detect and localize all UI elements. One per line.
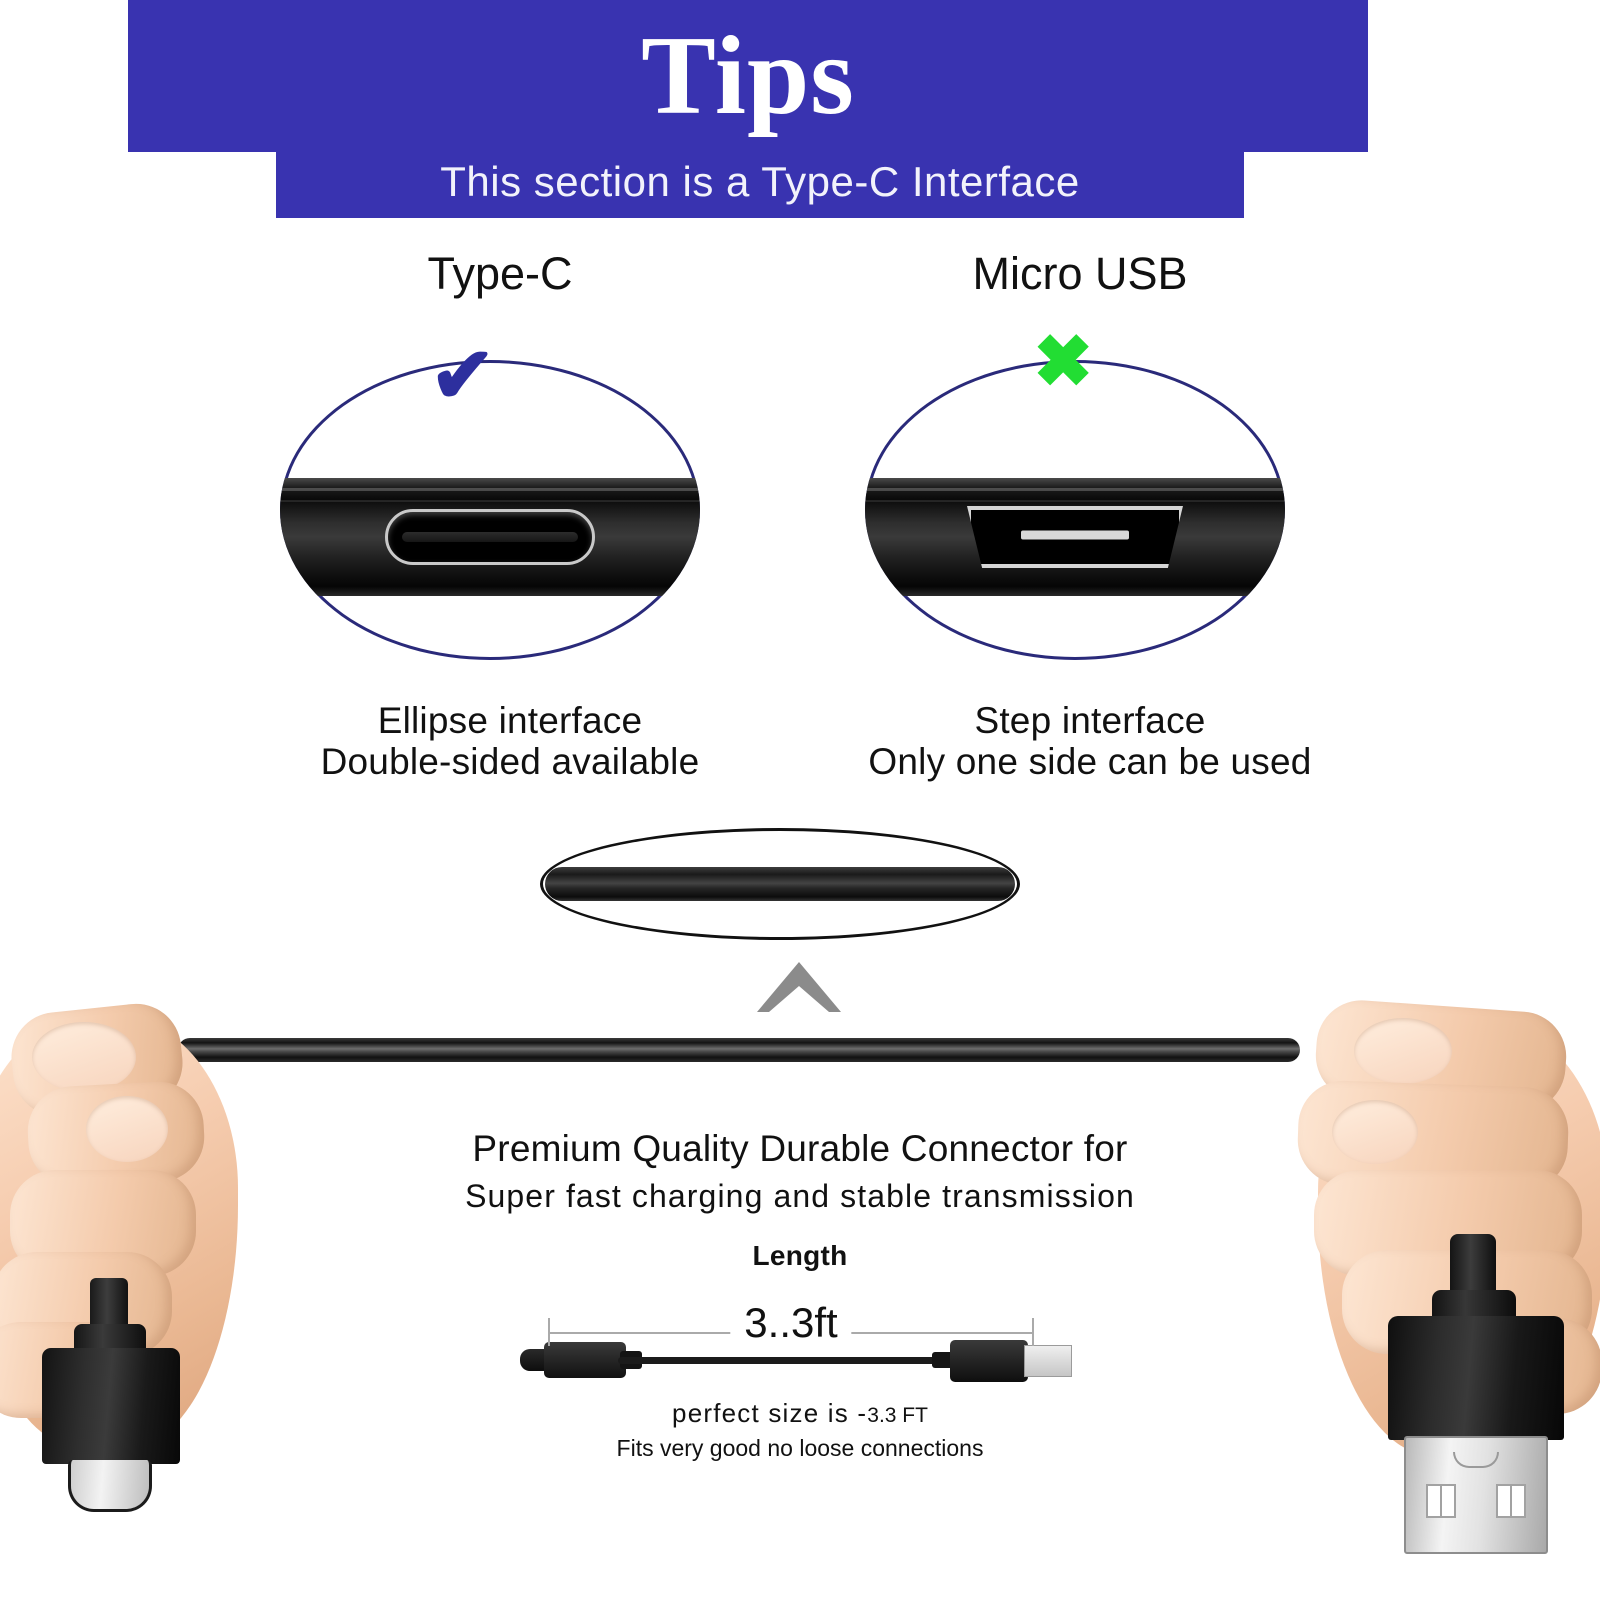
perfect-size-line: perfect size is -3.3 FT xyxy=(400,1398,1200,1429)
perfect-size-text: perfect size is - xyxy=(672,1398,867,1428)
micro-usb-port-opening xyxy=(967,506,1183,568)
type-c-connector-body xyxy=(280,478,700,596)
mini-cable-wire xyxy=(618,1357,970,1364)
check-mark-icon: ✔ xyxy=(430,336,495,414)
usb-a-contact-left xyxy=(1426,1484,1456,1518)
micro-usb-connector-body xyxy=(865,478,1285,596)
cross-mark-icon: ✖ xyxy=(1033,326,1093,398)
length-dimension-line: 3..3ft xyxy=(548,1310,1034,1340)
micro-usb-callout: ✖ xyxy=(865,340,1285,670)
up-arrow-indicator-icon xyxy=(757,962,841,1012)
usb-c-housing xyxy=(42,1348,180,1464)
promo-headline: Premium Quality Durable Connector for xyxy=(300,1128,1300,1170)
type-c-callout: ✔ xyxy=(280,340,700,670)
micro-usb-contact-tab xyxy=(1021,530,1129,539)
usb-logo-icon xyxy=(1453,1452,1499,1468)
left-index-nail xyxy=(86,1096,168,1162)
mini-usb-a-plug xyxy=(950,1340,1028,1382)
micro-usb-caption: Step interface Only one side can be used xyxy=(790,700,1390,783)
type-c-caption: Ellipse interface Double-sided available xyxy=(210,700,810,783)
connector-label-micro-usb: Micro USB xyxy=(860,248,1300,300)
infographic-canvas: Tips This section is a Type-C Interface … xyxy=(0,0,1600,1600)
micro-usb-clip xyxy=(865,360,1285,660)
length-footer-block: perfect size is -3.3 FT Fits very good n… xyxy=(400,1398,1200,1462)
promo-text-block: Premium Quality Durable Connector for Su… xyxy=(300,1128,1300,1215)
micro-usb-caption-line1: Step interface xyxy=(790,700,1390,741)
type-c-caption-line2: Double-sided available xyxy=(210,741,810,782)
fit-note: Fits very good no loose connections xyxy=(400,1435,1200,1462)
mini-usb-a-metal xyxy=(1024,1345,1072,1377)
usb-a-metal-shell xyxy=(1404,1436,1548,1554)
right-thumb-nail xyxy=(1354,1018,1452,1084)
type-c-port-opening xyxy=(385,509,595,565)
length-section-title: Length xyxy=(500,1240,1100,1272)
dimension-end-cap-left xyxy=(548,1318,550,1346)
banner-subtitle: This section is a Type-C Interface xyxy=(276,148,1244,216)
usb-a-contact-right xyxy=(1496,1484,1526,1518)
connector-label-type-c: Type-C xyxy=(280,248,720,300)
usb-a-housing xyxy=(1388,1316,1564,1440)
page-title: Tips xyxy=(128,6,1368,146)
length-value: 3..3ft xyxy=(730,1302,851,1344)
left-thumb-nail xyxy=(32,1022,136,1092)
right-index-nail xyxy=(1332,1100,1418,1164)
cable-cross-section-magnifier xyxy=(540,828,1020,940)
type-c-caption-line1: Ellipse interface xyxy=(210,700,810,741)
cable-cross-section-strand xyxy=(545,867,1015,901)
dimension-end-cap-right xyxy=(1032,1318,1034,1346)
micro-usb-caption-line2: Only one side can be used xyxy=(790,741,1390,782)
stretched-cable xyxy=(178,1038,1300,1062)
promo-subline: Super fast charging and stable transmiss… xyxy=(300,1178,1300,1215)
mini-usb-c-plug xyxy=(544,1342,626,1378)
perfect-size-value: 3.3 FT xyxy=(867,1404,928,1427)
left-hand-holding-cable xyxy=(0,1000,330,1600)
usb-c-metal-tip xyxy=(68,1460,152,1512)
